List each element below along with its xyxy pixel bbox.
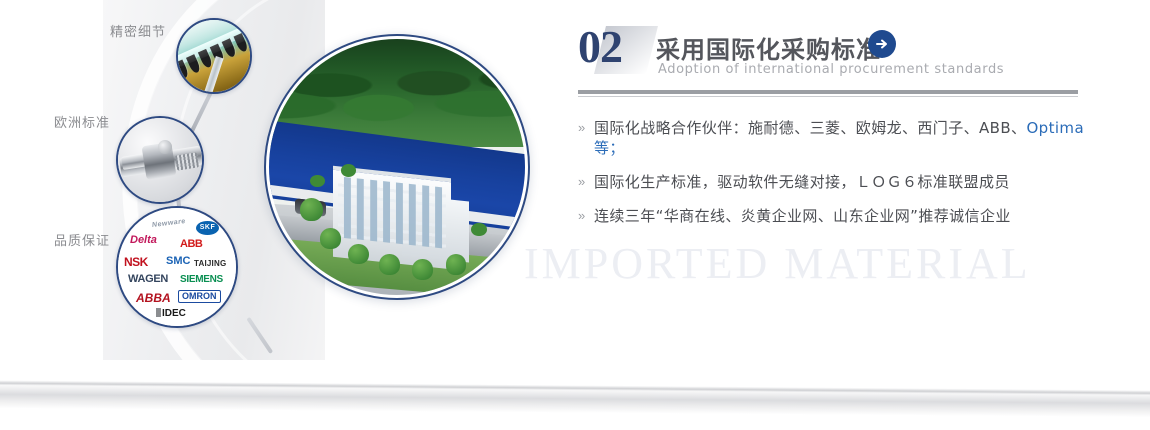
feature-list: » 国际化战略合作伙伴：施耐德、三菱、欧姆龙、西门子、ABB、Optima等； … bbox=[578, 118, 1098, 240]
content-column: 02 采用国际化采购标准 Adoption of international p… bbox=[578, 24, 1118, 82]
list-item: » 国际化生产标准，驱动软件无缝对接，ＬＯＧ６标准联盟成员 bbox=[578, 172, 1098, 192]
chevron-bullet-icon: » bbox=[578, 118, 594, 138]
list-item-text: 国际化战略合作伙伴：施耐德、三菱、欧姆龙、西门子、ABB、Optima等； bbox=[594, 118, 1098, 158]
page-subtitle: Adoption of international procurement st… bbox=[658, 62, 1004, 77]
list-item-text-plain: 国际化战略合作伙伴：施耐德、三菱、欧姆龙、西门子、ABB、 bbox=[594, 119, 1026, 137]
brand-omron: OMRON bbox=[178, 290, 221, 303]
header-divider-thin bbox=[578, 96, 1078, 97]
brand-nsk: NSK bbox=[124, 256, 148, 268]
brand-wagen: WAGEN bbox=[128, 274, 168, 285]
chevron-bullet-icon: » bbox=[578, 206, 594, 226]
brand-skf: SKF bbox=[196, 221, 219, 235]
list-item-text: 国际化生产标准，驱动软件无缝对接，ＬＯＧ６标准联盟成员 bbox=[594, 172, 1010, 192]
factory-aerial-photo bbox=[264, 34, 530, 300]
brand-taijing: TAIJING bbox=[194, 260, 226, 268]
label-european-standard: 欧洲标准 bbox=[54, 112, 110, 131]
watermark-text: IMPORTED MATERIAL bbox=[524, 238, 1031, 289]
factory-photo-inner bbox=[269, 39, 525, 295]
brand-idec: IDEC bbox=[156, 308, 186, 319]
gear-macro-icon bbox=[176, 18, 252, 94]
brand-abb: ABB bbox=[180, 239, 202, 250]
list-item: » 国际化战略合作伙伴：施耐德、三菱、欧姆龙、西门子、ABB、Optima等； bbox=[578, 118, 1098, 158]
brand-smc: SMC bbox=[166, 256, 190, 267]
brand-newware: Newware bbox=[152, 218, 186, 229]
section-header: 02 采用国际化采购标准 Adoption of international p… bbox=[578, 24, 1118, 82]
ball-screw-icon bbox=[116, 116, 204, 204]
label-quality-assurance: 品质保证 bbox=[54, 230, 110, 249]
brand-logo-grid: Newware SKF Delta ABB NSK SMC TAIJING WA… bbox=[118, 208, 236, 326]
ball-screw-port bbox=[158, 140, 172, 154]
brand-abba: ABBA bbox=[136, 292, 171, 304]
chevron-bullet-icon: » bbox=[578, 172, 594, 192]
brand-smc-mark bbox=[117, 207, 134, 218]
banner-stage: 精密细节 欧洲标准 品质保证 Newware SKF Delta bbox=[0, 0, 1150, 430]
arrow-right-circle-icon[interactable] bbox=[868, 30, 896, 58]
office-windows bbox=[338, 177, 446, 250]
header-divider bbox=[578, 90, 1078, 94]
brand-siemens: SIEMENS bbox=[180, 275, 223, 285]
brand-delta: Delta bbox=[130, 235, 157, 246]
list-item-text: 连续三年“华商在线、炎黄企业网、山东企业网”推荐诚信企业 bbox=[594, 206, 1011, 226]
label-precision-detail: 精密细节 bbox=[110, 21, 166, 40]
brand-logos-icon: Newware SKF Delta ABB NSK SMC TAIJING WA… bbox=[116, 206, 238, 328]
page-title: 采用国际化采购标准 bbox=[656, 30, 881, 65]
list-item: » 连续三年“华商在线、炎黄企业网、山东企业网”推荐诚信企业 bbox=[578, 206, 1098, 226]
section-number: 02 bbox=[578, 24, 622, 70]
